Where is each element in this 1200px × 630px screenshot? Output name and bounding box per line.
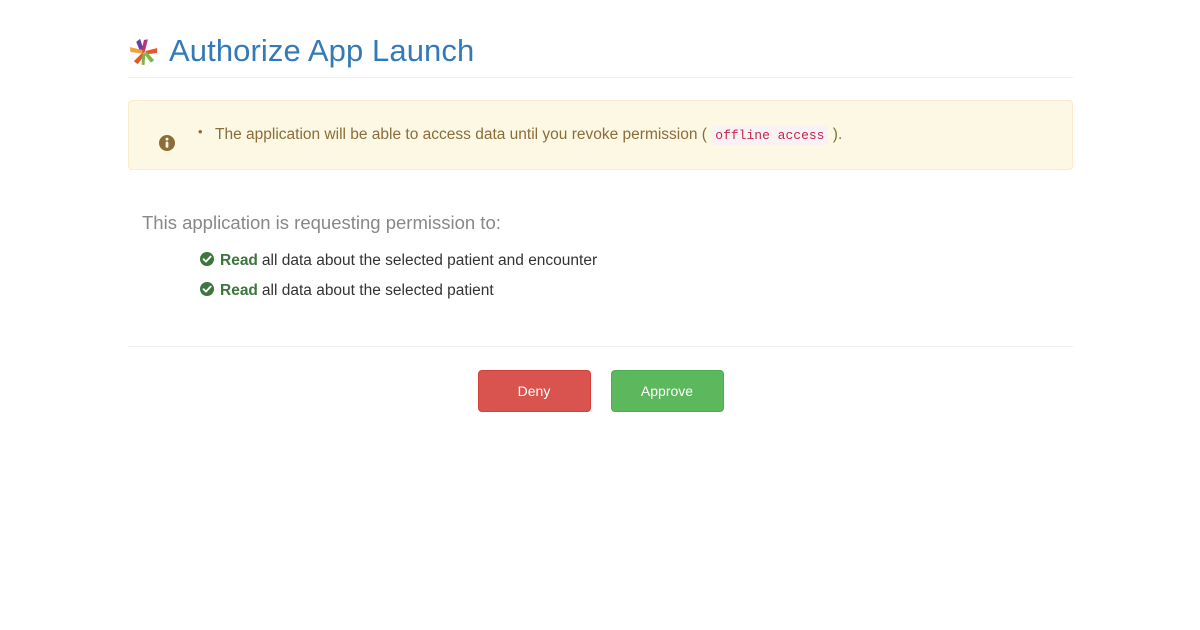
pinwheel-logo-icon [128,36,159,67]
permission-verb: Read [220,280,258,302]
approve-button[interactable]: Approve [611,370,724,412]
permissions-intro: This application is requesting permissio… [142,210,1073,236]
offline-access-code: offline access [711,126,828,145]
authorize-app-launch-page: Authorize App Launch The application wil… [0,0,1200,630]
info-circle-icon [159,135,175,151]
content-container: Authorize App Launch The application wil… [128,0,1073,412]
permission-item: Read all data about the selected patient… [200,246,1073,276]
alert-message-item: The application will be able to access d… [215,123,842,146]
deny-button[interactable]: Deny [478,370,591,412]
permissions-list: Read all data about the selected patient… [142,246,1073,307]
permission-description: all data about the selected patient [262,280,494,302]
check-circle-icon [200,252,214,266]
offline-access-alert: The application will be able to access d… [128,100,1073,170]
page-title: Authorize App Launch [169,34,474,68]
page-header: Authorize App Launch [128,0,1073,78]
alert-text-after: ). [833,126,842,143]
permission-item: Read all data about the selected patient [200,276,1073,306]
permission-verb: Read [220,250,258,272]
permission-description: all data about the selected patient and … [262,250,597,272]
alert-text-before: The application will be able to access d… [215,126,707,143]
check-circle-icon [200,282,214,296]
alert-message-list: The application will be able to access d… [193,123,842,146]
actions-bar: Deny Approve [128,347,1073,412]
permissions-section: This application is requesting permissio… [128,210,1073,307]
